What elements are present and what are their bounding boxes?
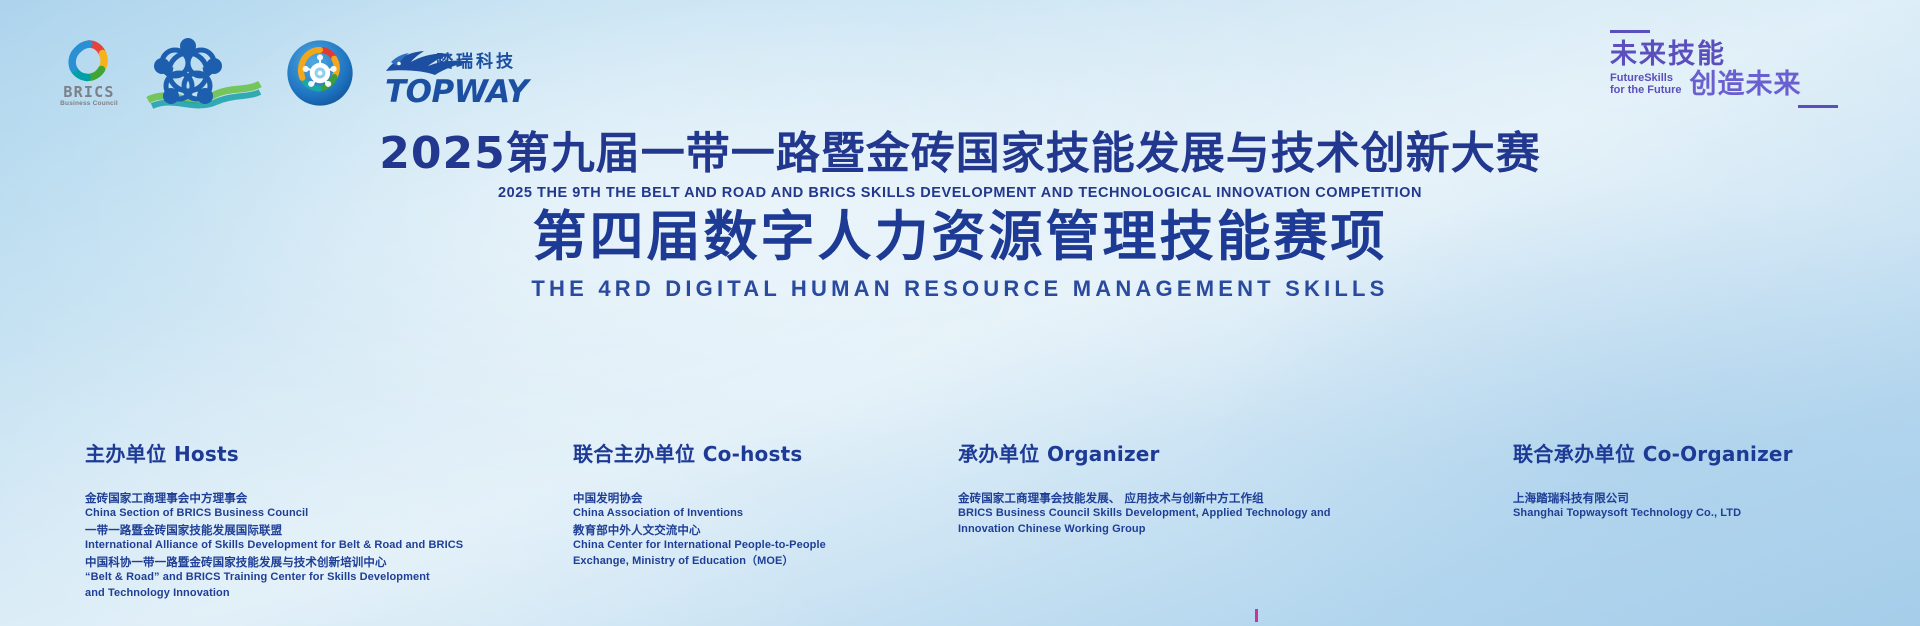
main-title-chinese: 2025第九届一带一路暨金砖国家技能发展与技术创新大赛 [0,128,1920,180]
organizer-heading-cn: 联合主办单位 [573,442,695,466]
subtitle-block: 第四届数字人力资源管理技能赛项 THE 4RD DIGITAL HUMAN RE… [0,205,1920,302]
organizer-heading-en: Co-hosts [703,442,803,466]
brics-star-icon [63,38,115,84]
organizer-heading-cn: 主办单位 [85,442,167,466]
organizer-column-organizer: 承办单位 Organizer 金砖国家工商理事会技能发展、 应用技术与创新中方工… [958,442,1388,538]
organizer-heading-en: Organizer [1047,442,1160,466]
organizer-line: China Association of Inventions [573,506,903,522]
organizer-heading-cn: 承办单位 [958,442,1040,466]
subtitle-chinese: 第四届数字人力资源管理技能赛项 [0,205,1920,270]
organizer-line: and Technology Innovation [85,586,515,602]
brics-wordmark: BRICS [63,85,114,101]
organizer-body: 中国发明协会 China Association of Inventions 教… [573,490,903,569]
organizer-body: 金砖国家工商理事会技能发展、 应用技术与创新中方工作组 BRICS Busine… [958,490,1388,538]
slogan-en-lines: FutureSkillsfor the Future [1610,72,1682,99]
organizer-line: 中国科协一带一路暨金砖国家技能发展与技术创新培训中心 [85,554,515,570]
slogan-rule-bottom [1798,105,1838,108]
organizer-line: 上海踏瑞科技有限公司 [1513,490,1873,506]
alliance-emblem-icon [146,36,262,112]
organizer-line: Shanghai Topwaysoft Technology Co., LTD [1513,506,1873,522]
sponsor-logo-row: BRICS Business Council [60,36,516,112]
pink-marker [1255,609,1258,622]
organizer-line: 金砖国家工商理事会中方理事会 [85,490,515,506]
svg-text:TOPWAY: TOPWAY [385,74,532,108]
organizer-heading: 主办单位 Hosts [85,442,515,466]
organizer-heading: 承办单位 Organizer [958,442,1388,466]
organizer-heading-en: Hosts [174,442,239,466]
main-title-block: 2025第九届一带一路暨金砖国家技能发展与技术创新大赛 2025 THE 9TH… [0,128,1920,201]
organizer-line: BRICS Business Council Skills Developmen… [958,506,1388,522]
topway-logo: TOPWAY 踏瑞科技 [382,40,516,108]
slogan-rule-top [1610,30,1650,33]
organizer-columns: 主办单位 Hosts 金砖国家工商理事会中方理事会 China Section … [0,442,1920,612]
organizer-column-coorganizer: 联合承办单位 Co-Organizer 上海踏瑞科技有限公司 Shanghai … [1513,442,1873,522]
organizer-line: Exchange, Ministry of Education（MOE） [573,554,903,570]
organizer-line: China Center for International People-to… [573,538,903,554]
slogan-en-line1: FutureSkills [1610,72,1673,84]
organizer-heading-en: Co-Organizer [1643,442,1793,466]
organizer-line: 教育部中外人文交流中心 [573,522,903,538]
subtitle-english: THE 4RD DIGITAL HUMAN RESOURCE MANAGEMEN… [0,276,1920,302]
organizer-heading: 联合主办单位 Co-hosts [573,442,903,466]
organizer-line: 金砖国家工商理事会技能发展、 应用技术与创新中方工作组 [958,490,1388,506]
organizer-line: 中国发明协会 [573,490,903,506]
brics-business-council-logo: BRICS Business Council [60,38,118,110]
organizer-heading: 联合承办单位 Co-Organizer [1513,442,1873,466]
organizer-line: 一带一路暨金砖国家技能发展国际联盟 [85,522,515,538]
organizer-body: 金砖国家工商理事会中方理事会 China Section of BRICS Bu… [85,490,515,601]
belt-road-brics-alliance-logo [146,36,262,112]
organizer-line: Innovation Chinese Working Group [958,522,1388,538]
main-title-english: 2025 THE 9TH THE BELT AND ROAD AND BRICS… [0,185,1920,201]
topway-chinese-wordmark: 踏瑞科技 [436,47,516,72]
competition-banner: BRICS Business Council [0,0,1920,626]
slogan-cn-line2: 创造未来 [1690,71,1802,98]
slogan-cn-line1: 未来技能 [1610,40,1868,69]
organizer-line: China Section of BRICS Business Council [85,506,515,522]
organizer-line: International Alliance of Skills Develop… [85,538,515,554]
slogan-en-line2: for the Future [1610,84,1682,96]
organizer-column-hosts: 主办单位 Hosts 金砖国家工商理事会中方理事会 China Section … [85,442,515,601]
organizer-column-cohosts: 联合主办单位 Co-hosts 中国发明协会 China Association… [573,442,903,569]
organizer-line: “Belt & Road” and BRICS Training Center … [85,570,515,586]
skills-training-center-logo [286,39,354,109]
brics-sub-wordmark: Business Council [60,101,118,108]
gear-star-emblem-icon [286,39,354,107]
organizer-heading-cn: 联合承办单位 [1513,442,1635,466]
organizer-body: 上海踏瑞科技有限公司 Shanghai Topwaysoft Technolog… [1513,490,1873,522]
future-skills-slogan: 未来技能 FutureSkillsfor the Future 创造未来 [1608,30,1868,108]
